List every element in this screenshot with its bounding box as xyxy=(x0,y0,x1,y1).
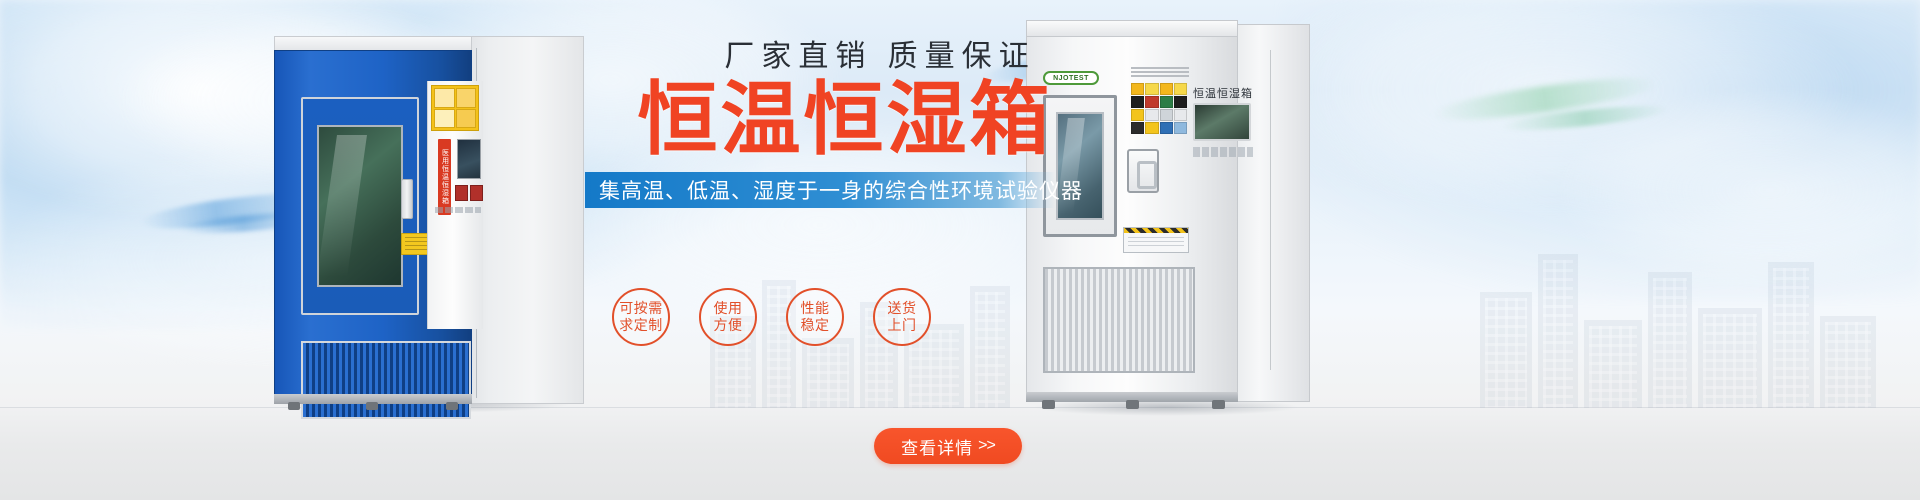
cta-label: 查看详情 xyxy=(901,434,973,459)
banner-headline: 恒温恒湿箱 xyxy=(585,78,1105,162)
double-chevron-right-icon: >> xyxy=(978,437,995,455)
feature-badge-delivery[interactable]: 送货 上门 xyxy=(873,288,931,346)
right-product-air-grille xyxy=(1043,267,1195,373)
left-product-body: 医用恒温恒湿箱 xyxy=(274,50,472,404)
feature-badge-custom[interactable]: 可按需 求定制 xyxy=(612,288,670,346)
left-product-display-screen xyxy=(457,139,481,179)
left-product-company-text xyxy=(435,207,481,213)
left-product-foot-3 xyxy=(446,402,458,410)
right-product-foot-3 xyxy=(1212,400,1225,409)
left-product-foot-1 xyxy=(288,402,300,410)
left-product-warning-stickers xyxy=(431,85,479,131)
right-product-foot-1 xyxy=(1042,400,1055,409)
left-product-panel-label: 医用恒温恒湿箱 xyxy=(438,139,451,215)
right-product-company-text xyxy=(1193,147,1253,157)
right-product-side-panel xyxy=(1232,24,1310,402)
right-product-test-port xyxy=(1127,149,1159,193)
right-product-warning-plate xyxy=(1123,227,1189,253)
badge-line-2: 求定制 xyxy=(619,317,663,335)
badge-line-2: 稳定 xyxy=(801,317,830,335)
skyline-silhouette-right xyxy=(1480,242,1900,412)
left-product-foot-2 xyxy=(366,402,378,410)
promo-banner: 医用恒温恒湿箱 NJOTEST 恒温恒湿箱 xyxy=(0,0,1920,500)
badge-line-2: 方便 xyxy=(714,317,743,335)
left-product-base xyxy=(274,394,472,404)
product-image-left: 医用恒温恒湿箱 xyxy=(262,22,582,407)
feature-badge-row: 可按需 求定制 使用 方便 性能 稳定 送货 上门 xyxy=(612,288,931,346)
right-product-foot-2 xyxy=(1126,400,1139,409)
left-product-buttons xyxy=(455,185,483,201)
banner-subtitle-bar: 集高温、低温、湿度于一身的综合性环境试验仪器 xyxy=(585,172,1055,208)
view-details-button[interactable]: 查看详情 >> xyxy=(874,428,1022,464)
left-product-viewing-window xyxy=(317,125,403,287)
badge-line-2: 上门 xyxy=(888,317,917,335)
badge-line-1: 使用 xyxy=(714,300,743,318)
right-product-base xyxy=(1026,392,1238,402)
right-product-vent-louvers xyxy=(1131,67,1189,79)
badge-line-1: 可按需 xyxy=(619,300,663,318)
feature-badge-stable[interactable]: 性能 稳定 xyxy=(786,288,844,346)
badge-line-1: 性能 xyxy=(801,300,830,318)
right-product-seam xyxy=(1270,50,1271,370)
cloud-5 xyxy=(1250,0,1850,210)
banner-subtitle: 集高温、低温、湿度于一身的综合性环境试验仪器 xyxy=(599,175,1083,205)
swoosh-ribbon-right-2 xyxy=(1500,101,1671,135)
banner-copy-block: 厂家直销 质量保证 恒温恒湿箱 集高温、低温、湿度于一身的综合性环境试验仪器 xyxy=(585,42,1105,208)
left-product-door-handle xyxy=(401,179,413,219)
feature-badge-easy-use[interactable]: 使用 方便 xyxy=(699,288,757,346)
right-product-display-screen xyxy=(1193,103,1251,141)
swoosh-ribbon-right-1 xyxy=(1429,70,1660,128)
right-product-safety-stickers xyxy=(1131,83,1187,141)
badge-line-1: 送货 xyxy=(888,300,917,318)
banner-eyebrow: 厂家直销 质量保证 xyxy=(655,42,1105,72)
right-product-panel-title: 恒温恒湿箱 xyxy=(1193,85,1253,101)
